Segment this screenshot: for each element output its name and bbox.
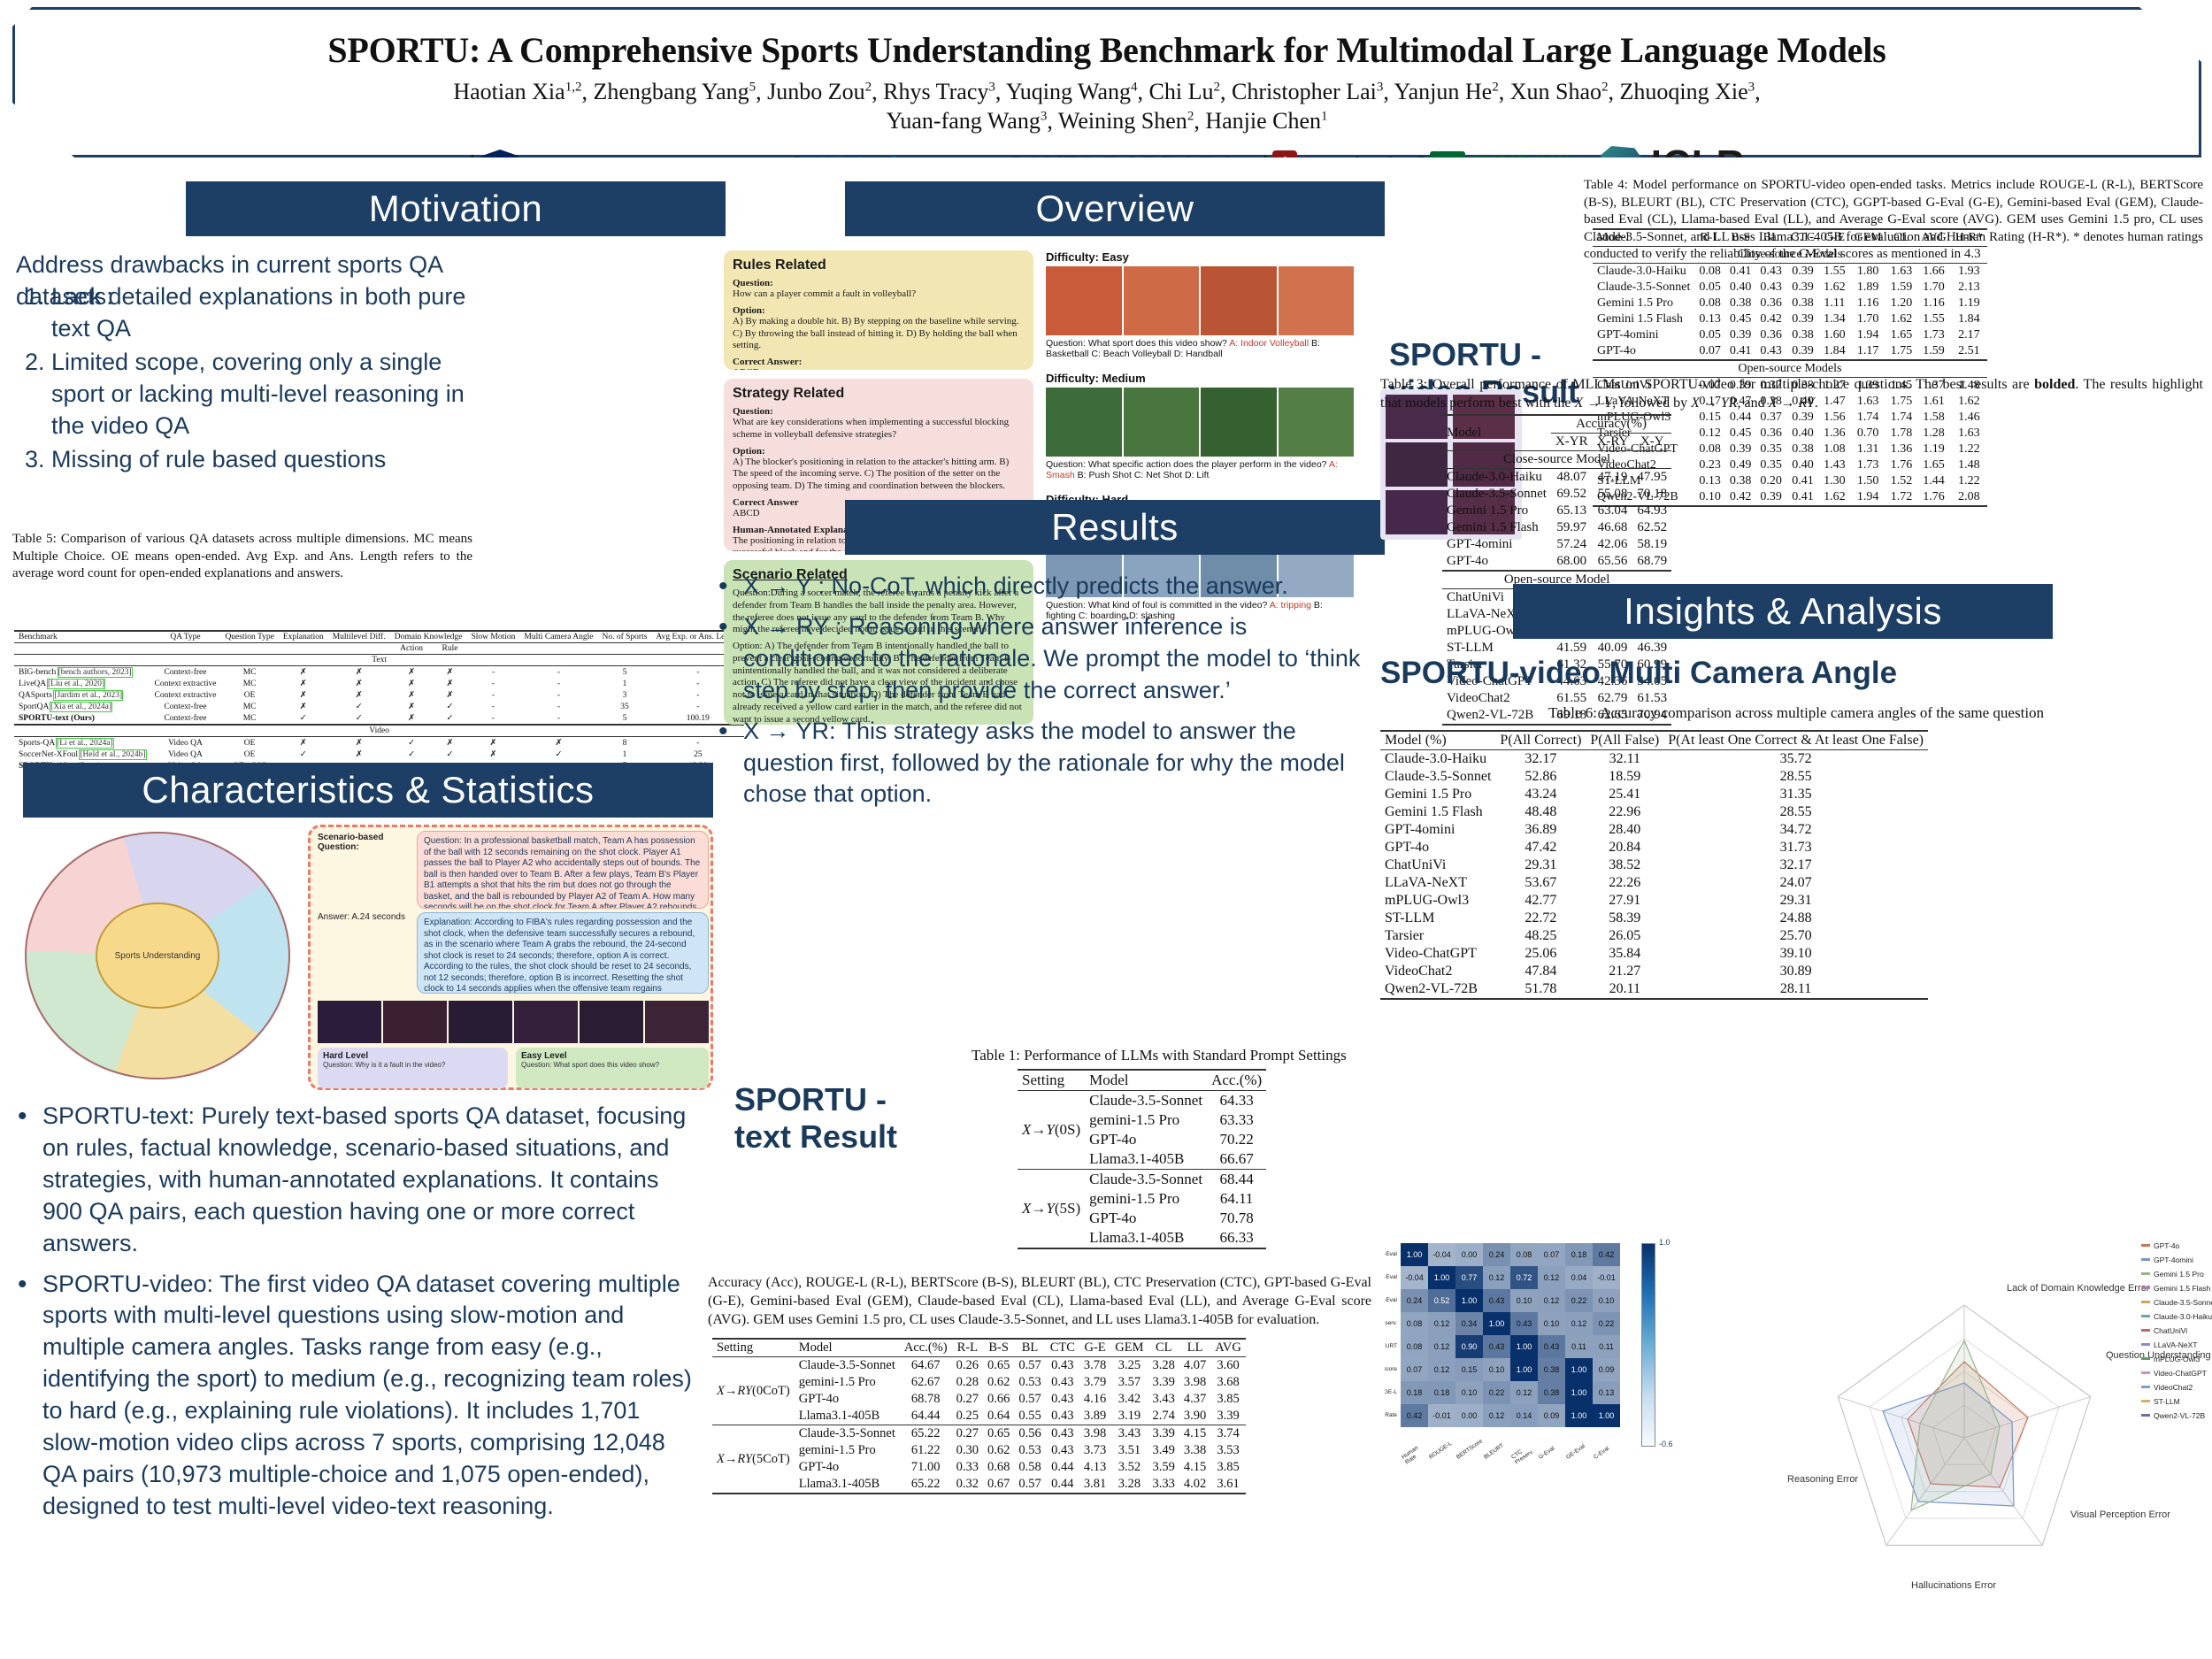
author-line-1: Haotian Xia1,2, Zhengbang Yang5, Junbo Z… <box>15 78 2199 107</box>
table-row: QASports [Jardim et al., 2023]Context ex… <box>14 689 744 701</box>
section-banner-results: Results <box>845 500 1385 555</box>
cell-metric: 1.31 <box>1850 442 1886 457</box>
cell-metric: 3.28 <box>1148 1357 1179 1375</box>
cell-metric: 3.61 <box>1210 1476 1246 1494</box>
cell-metric: 0.64 <box>983 1408 1014 1425</box>
text-result-label: SPORTU -text Result <box>734 1081 929 1156</box>
cell-metric: 0.40 <box>1725 280 1756 296</box>
cell-metric: 0.33 <box>952 1459 983 1476</box>
cell-model: Claude-3.5-Sonnet <box>1442 486 1551 503</box>
video-frame <box>1046 388 1122 457</box>
list-item: Missing of rule based questions <box>51 444 476 476</box>
cell-metric: 1.80 <box>1850 264 1886 280</box>
heatmap-colorbar <box>1641 1243 1655 1447</box>
cell-probability: 24.88 <box>1663 910 1928 927</box>
heatmap-cell: 0.10 <box>1455 1381 1483 1404</box>
cell-probability: 36.89 <box>1495 821 1586 839</box>
heatmap-y-labels: G-EvalGE-EvalC-EvalCTC Preserv.BLEURTBER… <box>1385 1243 1397 1427</box>
cell-action: ✗ <box>390 701 434 712</box>
table-row: GPT-4o68.0065.5668.79 <box>1442 553 1671 571</box>
legend-label: LLaVA-NeXT <box>2154 1340 2197 1349</box>
easy-level-block: Easy Level Question: What sport does thi… <box>516 1048 709 1088</box>
cell-metric: 4.13 <box>1079 1459 1110 1476</box>
cell-sports: 1 <box>597 678 651 689</box>
heatmap-cell: 0.13 <box>1593 1381 1620 1404</box>
affiliation-rice: 1 RICE UNIVERSITY <box>469 150 772 185</box>
col-r-l: R-L <box>1694 229 1725 247</box>
heatmap-y-label: Human Rate <box>1385 1404 1397 1427</box>
cell-probability: 24.07 <box>1663 874 1928 892</box>
cell-metric: 3.85 <box>1210 1459 1246 1476</box>
col-model-: Model (%) <box>1380 731 1495 750</box>
video-frame <box>1046 266 1122 335</box>
heatmap-row: 1.00-0.040.000.240.080.070.180.42 <box>1401 1243 1620 1266</box>
sunburst-center: Sports Understanding <box>96 902 219 1009</box>
radar-axis-label: Reasoning Error <box>1787 1474 1858 1485</box>
legend-swatch <box>2141 1315 2150 1317</box>
cell-metric: 0.35 <box>1755 442 1786 457</box>
colorbar-max: 1.0 <box>1659 1238 1671 1247</box>
heatmap-cell: 0.90 <box>1455 1335 1483 1358</box>
heatmap-cell: -0.01 <box>1593 1266 1620 1289</box>
table2: SettingModelAcc.(%)R-LB-SBLCTCG-EGEMCLLL… <box>712 1338 1246 1494</box>
cell-model: Llama3.1-405B <box>1085 1149 1207 1170</box>
cell-metric: 0.40 <box>1786 457 1819 473</box>
cell-metric: 0.23 <box>1694 457 1725 473</box>
col-avg: AVG <box>1916 229 1951 247</box>
col-domain-knowledge: Domain Knowledge <box>390 631 467 643</box>
cell-metric: 0.28 <box>952 1374 983 1391</box>
heatmap-cell: 0.43 <box>1538 1335 1565 1358</box>
cell-metric: 71.00 <box>900 1459 952 1476</box>
cell-probability: 25.06 <box>1495 945 1586 963</box>
cell-metric: 0.27 <box>952 1425 983 1443</box>
table-row: Video-ChatGPT25.0635.8439.10 <box>1380 945 1928 963</box>
option-label: Option: <box>733 446 1025 457</box>
cell-metric: 3.39 <box>1210 1408 1246 1425</box>
cell-metric: 1.19 <box>1951 296 1987 311</box>
cell-model: Qwen2-VL-72B <box>1380 980 1495 999</box>
col-bl: BL <box>1755 229 1786 247</box>
heatmap-cell: 0.00 <box>1455 1404 1483 1427</box>
cell-metric: 68.78 <box>900 1391 952 1408</box>
col-ctc: CTC <box>1786 229 1819 247</box>
video-frame <box>1124 388 1200 457</box>
cell-metric: 1.84 <box>1951 311 1987 327</box>
cell-metric: 0.39 <box>1725 327 1756 343</box>
cell-metric: 0.35 <box>1755 457 1786 473</box>
cell-probability: 18.59 <box>1586 768 1663 786</box>
table6-body: Claude-3.0-Haiku32.1732.1135.72Claude-3.… <box>1380 750 1928 1000</box>
heatmap-cell: 0.07 <box>1538 1243 1565 1266</box>
heatmap-cell: 0.00 <box>1455 1243 1483 1266</box>
table-row: GPT-4o0.070.410.430.391.841.171.751.592.… <box>1593 343 1987 360</box>
cell-model: GPT-4o <box>1085 1209 1207 1228</box>
cell-metric: 0.44 <box>1046 1459 1079 1476</box>
cell-metric: 0.05 <box>1694 280 1725 296</box>
cell-metric: 0.38 <box>1786 442 1819 457</box>
heatmap-cell: 0.18 <box>1401 1381 1428 1404</box>
video-answer: A: Indoor Volleyball <box>1229 338 1309 349</box>
cell-metric: 0.38 <box>1725 473 1756 489</box>
hard-level-block: Hard Level Question: Why is it a fault i… <box>318 1048 508 1088</box>
heatmap-cell: 1.00 <box>1565 1404 1593 1427</box>
heatmap-x-label: GE-Eval <box>1565 1440 1594 1465</box>
video-panel-easy: Difficulty: Easy Question: What sport do… <box>1046 250 1354 359</box>
cell-multilevel: ✗ <box>328 678 390 689</box>
heatmap-cell: 0.11 <box>1565 1335 1593 1358</box>
legend-label: Claude-3.5-Sonnet <box>2154 1298 2212 1307</box>
col-b-s: B-S <box>983 1339 1014 1357</box>
cell-sports: 5 <box>597 666 651 679</box>
video-frame <box>645 1001 709 1043</box>
cell-probability: 31.73 <box>1663 839 1928 856</box>
table-row: GPT-4o47.4220.8431.73 <box>1380 839 1928 856</box>
table-row: ST-LLM22.7258.3924.88 <box>1380 910 1928 927</box>
cell-metric: 0.39 <box>1786 343 1819 360</box>
cell-metric: 3.98 <box>1079 1425 1110 1443</box>
cell-metric: 1.94 <box>1850 489 1886 506</box>
legend-swatch <box>2141 1343 2150 1346</box>
cell-metric: 4.15 <box>1179 1459 1210 1476</box>
cell-probability: 53.67 <box>1495 874 1586 892</box>
cell-probability: 22.72 <box>1495 910 1586 927</box>
table-header-row: Model (%)P(All Correct)P(All False)P(At … <box>1380 731 1928 750</box>
table-row: Claude-3.0-Haiku0.080.410.430.391.551.80… <box>1593 264 1987 280</box>
cell-camera: - <box>519 678 597 689</box>
affiliation-stanford: 4 Stanford <box>1260 150 1394 184</box>
question-label: Question: <box>733 406 1025 417</box>
table1-body: X→Y(0S)Claude-3.5-Sonnet64.33gemini-1.5 … <box>1018 1091 1266 1249</box>
cell-probability: 29.31 <box>1663 892 1928 910</box>
table-row: Gemini 1.5 Flash0.130.450.420.391.341.70… <box>1593 311 1987 327</box>
cell-qa-type: Video QA <box>150 737 221 749</box>
cell-probability: 32.17 <box>1495 750 1586 769</box>
cell-metric: 1.30 <box>1819 473 1850 489</box>
cell-metric: 1.62 <box>1819 280 1850 296</box>
legend-swatch <box>2141 1400 2150 1402</box>
cell-metric: 0.08 <box>1694 442 1725 457</box>
heatmap-cell: 0.10 <box>1593 1289 1620 1312</box>
table-row: X→RY(5CoT)Claude-3.5-Sonnet65.220.270.65… <box>712 1425 1246 1443</box>
cell-metric: 3.28 <box>1110 1476 1148 1494</box>
cell-model: Claude-3.0-Haiku <box>1380 750 1495 769</box>
cell-model: GPT-4o <box>795 1391 900 1408</box>
cell-metric: 0.43 <box>1755 280 1786 296</box>
legend-label: Gemini 1.5 Pro <box>2154 1270 2204 1279</box>
col-setting: Setting <box>712 1339 795 1357</box>
col-multi-camera: Multi Camera Angle <box>519 631 597 643</box>
cell-metric: 0.43 <box>1755 343 1786 360</box>
author-list: Haotian Xia1,2, Zhengbang Yang5, Junbo Z… <box>15 78 2199 135</box>
cell-probability: 22.26 <box>1586 874 1663 892</box>
affiliation-label: UC Irvine <box>807 151 931 184</box>
cell-qa-type: Context-free <box>150 666 221 679</box>
cell-metric: 1.76 <box>1886 457 1917 473</box>
cell-probability: 48.25 <box>1495 927 1586 945</box>
col-model: Model <box>1593 229 1694 247</box>
cell-metric: 0.62 <box>983 1442 1014 1459</box>
legend-swatch <box>2141 1244 2150 1247</box>
cell-metric: 1.36 <box>1886 442 1917 457</box>
cell-metric: 0.36 <box>1755 296 1786 311</box>
cell-metric: 64.67 <box>900 1357 952 1375</box>
cell-acc: 70.22 <box>1207 1130 1266 1149</box>
cell-action: ✓ <box>390 737 434 749</box>
cell-metric: 0.56 <box>1014 1425 1045 1443</box>
cell-metric: 0.41 <box>1786 473 1819 489</box>
cell-slow-motion: - <box>466 678 519 689</box>
video-frame <box>1124 266 1200 335</box>
cell-metric: 4.16 <box>1079 1391 1110 1408</box>
cell-rule: ✓ <box>433 749 466 760</box>
cell-explanation: ✓ <box>279 749 328 760</box>
cell-metric: 1.89 <box>1850 280 1886 296</box>
cell-metric: 1.62 <box>1886 311 1917 327</box>
option-text: A) By making a double hit. B) By steppin… <box>733 316 1025 352</box>
cell-slow-motion: - <box>466 712 519 725</box>
heatmap-cell: 0.34 <box>1455 1312 1483 1335</box>
heatmap-row: 0.180.180.100.220.120.381.000.13 <box>1401 1381 1620 1404</box>
cell-metric: 3.78 <box>1079 1357 1110 1375</box>
heatmap-cell: 0.18 <box>1428 1381 1455 1404</box>
cell-metric: 3.39 <box>1148 1425 1179 1443</box>
cell-sports: 8 <box>597 737 651 749</box>
cell-accuracy: 69.52 <box>1551 486 1593 503</box>
affiliation-number: 5 <box>1417 153 1425 171</box>
heatmap-cell: 0.52 <box>1428 1289 1455 1312</box>
scenario-card: Scenario-based Question: Question: In a … <box>308 825 713 1090</box>
cell-probability: 58.39 <box>1586 910 1663 927</box>
section-banner-overview: Overview <box>845 181 1385 236</box>
list-item: X → Y : No-CoT, which directly predicts … <box>717 571 1371 603</box>
heatmap-cell: 1.00 <box>1565 1358 1593 1381</box>
cell-metric: 0.08 <box>1694 264 1725 280</box>
heatmap-cell: 1.00 <box>1510 1358 1538 1381</box>
cell-question-type: MC <box>220 678 278 689</box>
cell-probability: 52.86 <box>1495 768 1586 786</box>
cell-accuracy: 47.19 <box>1593 469 1633 487</box>
cell-metric: 1.16 <box>1916 296 1951 311</box>
table-row: X→Y(0S)Claude-3.5-Sonnet64.33 <box>1018 1091 1266 1111</box>
cell-model: GPT-4omini <box>1442 536 1551 553</box>
cell-model: Llama3.1-405B <box>795 1408 900 1425</box>
heatmap-cell: 0.10 <box>1538 1312 1565 1335</box>
cell-metric: 1.50 <box>1850 473 1886 489</box>
cell-metric: 1.72 <box>1886 489 1917 506</box>
cell-setting: X→RY(5CoT) <box>712 1425 795 1494</box>
heatmap-cell: 1.00 <box>1593 1404 1620 1427</box>
supercol-accuracy: Accuracy(%) <box>1551 415 1671 434</box>
legend-label: mPLUG-Owl3 <box>2154 1355 2200 1363</box>
video-frame <box>383 1001 447 1043</box>
cell-metric: 0.39 <box>1786 264 1819 280</box>
legend-swatch <box>2141 1258 2150 1261</box>
cell-metric: 1.16 <box>1850 296 1886 311</box>
heatmap-cell: 0.12 <box>1538 1266 1565 1289</box>
section-banner-insights: Insights & Analysis <box>1513 584 2053 639</box>
cell-probability: 47.84 <box>1495 963 1586 980</box>
cell-metric: 64.44 <box>900 1408 952 1425</box>
cell-probability: 28.55 <box>1663 803 1928 821</box>
cell-probability: 25.70 <box>1663 927 1928 945</box>
cell-setting: X→Y(5S) <box>1018 1170 1085 1249</box>
heatmap-cell: 1.00 <box>1455 1289 1483 1312</box>
video-question: Question: What sport does this video sho… <box>1046 338 1227 349</box>
cell-metric: 0.13 <box>1694 311 1725 327</box>
cell-metric: 0.42 <box>1725 489 1756 506</box>
cell-question-type: OE <box>220 689 278 701</box>
affiliation-ucsb: 3 UC SANTA BARBARA <box>954 152 1236 182</box>
table-row: Gemini 1.5 Pro0.080.380.360.381.111.161.… <box>1593 296 1987 311</box>
cell-model: GPT-4omini <box>1593 327 1694 343</box>
legend-swatch <box>2141 1414 2150 1417</box>
cell-metric: 0.36 <box>1755 426 1786 442</box>
cell-accuracy: 64.93 <box>1632 503 1671 519</box>
cell-model: GPT-4omini <box>1380 821 1495 839</box>
heatmap-row: 0.080.120.900.431.000.430.110.11 <box>1401 1335 1620 1358</box>
cell-metric: 0.42 <box>1755 311 1786 327</box>
list-item: X → RY : Reasoning where answer inferenc… <box>717 611 1371 707</box>
affiliation-label: SANTA BARBARA <box>1007 152 1237 182</box>
cell-metric: 0.57 <box>1014 1357 1045 1375</box>
legend-label: Qwen2-VL-72B <box>2154 1411 2205 1420</box>
cell-model: Gemini 1.5 Flash <box>1442 519 1551 536</box>
cell-metric: 1.73 <box>1850 457 1886 473</box>
table-header-row: SettingModelAcc.(%)R-LB-SBLCTCG-EGEMCLLL… <box>712 1339 1246 1357</box>
cell-model: Gemini 1.5 Pro <box>1380 786 1495 803</box>
heatmap-cell: 0.38 <box>1538 1381 1565 1404</box>
cell-metric: 0.25 <box>952 1408 983 1425</box>
radar-axis-label: Visual Perception Error <box>2070 1509 2170 1520</box>
heatmap-x-label: ROUGE-L <box>1428 1440 1457 1465</box>
heatmap-cell: 0.43 <box>1483 1289 1510 1312</box>
sunburst-figure: Sports Understanding <box>18 827 301 1084</box>
cell-rule: ✗ <box>433 689 466 701</box>
section-banner-characteristics: Characteristics & Statistics <box>23 763 713 818</box>
radar-legend: GPT-4oGPT-4ominiGemini 1.5 ProGemini 1.5… <box>2141 1241 2212 1420</box>
heatmap-cell: 0.12 <box>1538 1289 1565 1312</box>
video-frame <box>1279 266 1355 335</box>
col-gem: GEM <box>1110 1339 1148 1357</box>
heatmap-y-label: ROUGE-L <box>1385 1381 1397 1404</box>
col-x-ry: X-RY <box>1593 434 1633 451</box>
cell-rule: ✗ <box>433 678 466 689</box>
rice-shield-icon <box>481 150 518 185</box>
video-options: B: Push Shot C: Net Shot D: Lift <box>1078 470 1210 480</box>
video-frame <box>514 1001 578 1043</box>
affiliation-number: 3 <box>954 154 962 172</box>
cell-metric: 2.51 <box>1951 343 1987 360</box>
cell-probability: 30.89 <box>1663 963 1928 980</box>
cell-model: Gemini 1.5 Pro <box>1442 503 1551 519</box>
col-avg: AVG <box>1210 1339 1246 1357</box>
cell-metric: 3.60 <box>1210 1357 1246 1375</box>
cell-probability: 42.77 <box>1495 892 1586 910</box>
table-row: SPORTU-text (Ours)Context-freeMC✓✓✗✓--51… <box>14 712 744 725</box>
cell-qa-type: Video QA <box>150 749 221 760</box>
group-label: Text <box>14 655 744 666</box>
cell-metric: 2.08 <box>1951 489 1987 506</box>
heatmap-cell: -0.04 <box>1428 1243 1455 1266</box>
cell-model: Gemini 1.5 Pro <box>1593 296 1694 311</box>
affiliation-uci: 2 UC Irvine <box>794 151 931 184</box>
poster-root: SPORTU: A Comprehensive Sports Understan… <box>0 0 2212 1659</box>
cell-accuracy: 62.52 <box>1632 519 1671 536</box>
cell-qa-type: Context-free <box>150 701 221 712</box>
legend-label: GPT-4omini <box>2154 1256 2193 1264</box>
cell-metric: 1.76 <box>1916 489 1951 506</box>
cell-metric: 0.05 <box>1694 327 1725 343</box>
heatmap-cell: 0.10 <box>1483 1358 1510 1381</box>
radar-svg: Lack of Domain Knowledge Error Question … <box>1778 1234 2212 1650</box>
cell-multilevel: ✗ <box>328 666 390 679</box>
cell-benchmark: LiveQA [Liu et al., 2020] <box>14 678 150 689</box>
cell-metric: 0.49 <box>1725 457 1756 473</box>
table-subheader-row: Action Rule <box>14 643 744 655</box>
cell-model: ST-LLM <box>1380 910 1495 927</box>
cell-qa-type: Context extractive <box>150 678 221 689</box>
cell-metric: 0.58 <box>1014 1459 1045 1476</box>
video-caption: Question: What specific action does the … <box>1046 459 1354 480</box>
cell-metric: 0.45 <box>1725 426 1756 442</box>
cell-metric: 0.57 <box>1014 1476 1045 1494</box>
cell-probability: 32.11 <box>1586 750 1663 769</box>
cell-benchmark: SoccerNet-XFoul [Held et al., 2024b] <box>14 749 150 760</box>
cell-metric: 1.55 <box>1819 264 1850 280</box>
legend-label: VideoChat2 <box>2154 1383 2193 1392</box>
cell-metric: 0.43 <box>1046 1374 1079 1391</box>
scenario-explanation: Explanation: According to FIBA's rules r… <box>417 912 709 994</box>
heatmap-cell: 0.12 <box>1428 1312 1455 1335</box>
cell-model: gemini-1.5 Pro <box>795 1374 900 1391</box>
cell-probability: 47.42 <box>1495 839 1586 856</box>
cell-metric: 65.22 <box>900 1425 952 1443</box>
cell-benchmark: SportQA [Xia et al., 2024a] <box>14 701 150 712</box>
cell-metric: 0.26 <box>952 1357 983 1375</box>
heatmap-cell: 0.42 <box>1593 1243 1620 1266</box>
cell-sports: 3 <box>597 689 651 701</box>
video-frame <box>580 1001 643 1043</box>
cell-metric: 1.44 <box>1916 473 1951 489</box>
cell-model: gemini-1.5 Pro <box>1085 1189 1207 1209</box>
heatmap-x-label: BERTScore <box>1455 1440 1485 1465</box>
error-radar-chart: Lack of Domain Knowledge Error Question … <box>1778 1234 2212 1650</box>
cell-metric: 3.68 <box>1210 1374 1246 1391</box>
heatmap-cell: 0.77 <box>1455 1266 1483 1289</box>
cell-accuracy: 47.95 <box>1632 469 1671 487</box>
cell-action: ✗ <box>390 689 434 701</box>
cell-metric: 1.59 <box>1916 343 1951 360</box>
list-item: SPORTU-text: Purely text-based sports QA… <box>16 1101 702 1260</box>
gmu-logo-icon <box>1430 151 1465 183</box>
cell-model: GPT-4o <box>1380 839 1495 856</box>
cell-metric: 1.66 <box>1916 264 1951 280</box>
cell-accuracy: 68.00 <box>1551 553 1593 571</box>
cell-metric: 1.65 <box>1916 457 1951 473</box>
heatmap-grid: 1.00-0.040.000.240.080.070.180.42-0.041.… <box>1401 1243 1620 1427</box>
cell-metric: 3.43 <box>1148 1391 1179 1408</box>
cell-accuracy: 68.79 <box>1632 553 1671 571</box>
cell-explanation: ✗ <box>279 701 328 712</box>
table5: Benchmark QA Type Question Type Explanat… <box>14 630 744 772</box>
list-item: Lack detailed explanations in both pure … <box>51 281 476 345</box>
cell-accuracy: 46.68 <box>1593 519 1633 536</box>
cell-metric: 0.44 <box>1046 1476 1079 1494</box>
cell-acc: 63.33 <box>1207 1110 1266 1130</box>
cell-accuracy: 63.04 <box>1593 503 1633 519</box>
cell-model: Video-ChatGPT <box>1380 945 1495 963</box>
